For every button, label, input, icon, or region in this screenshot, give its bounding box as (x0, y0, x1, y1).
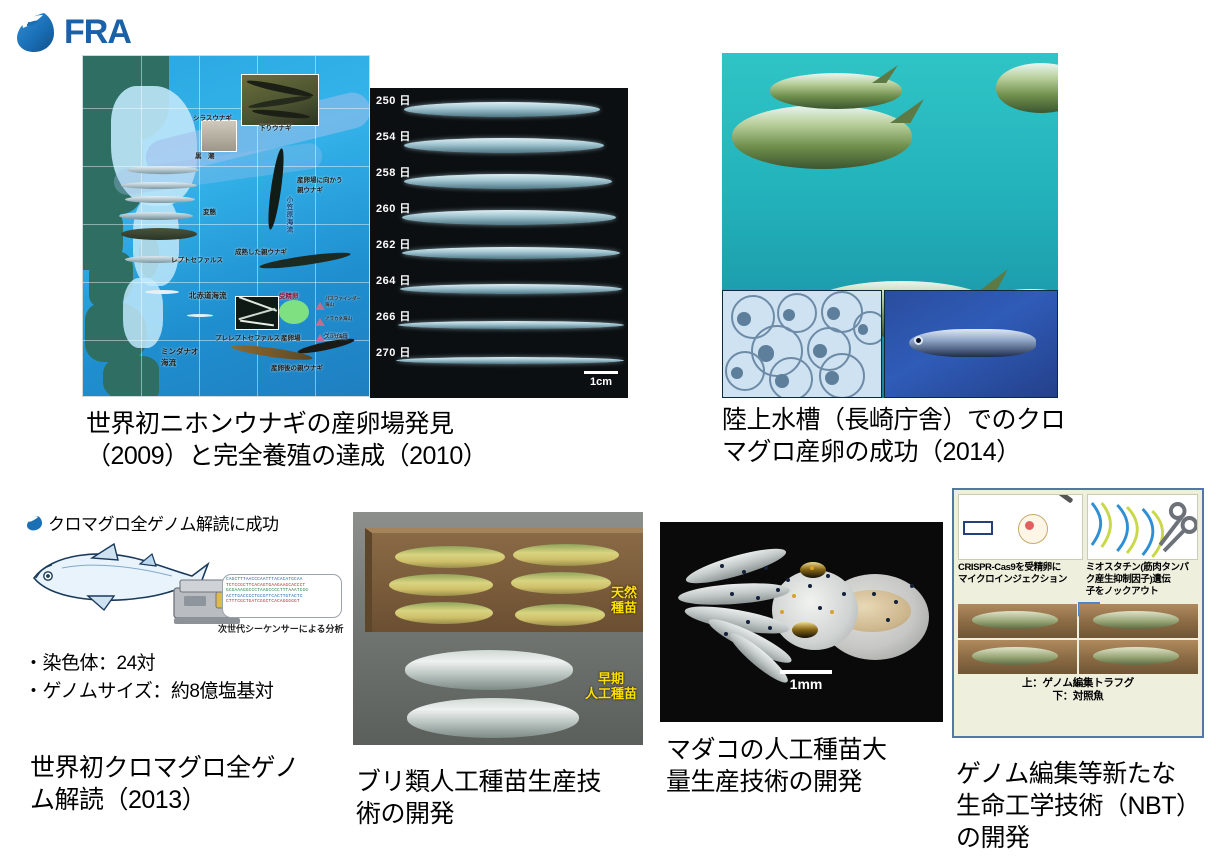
fra-droplet-fish-icon (14, 11, 60, 53)
nbt-text-knockout: ミオスタチン(筋肉タンパク産生抑制因子)遺伝子をノックアウト (1086, 562, 1189, 598)
genome-illustration: CAGCTTTAACCCAATTTACACATGCAA TCTCCGCTTCAC… (22, 534, 342, 644)
nbt-text-injection: CRISPR-Cas9を受精卵にマイクロインジェクション (958, 562, 1083, 598)
nbt-top-row (958, 494, 1198, 560)
genome-fact-chromosomes: ・染色体：24対 (24, 650, 364, 678)
larva-row: 258 日 (370, 160, 628, 196)
nbt-legend: 上：ゲノム編集トラフグ 下：対照魚 (958, 677, 1198, 704)
larva-day-label: 266 日 (376, 308, 411, 324)
caption-genome: 世界初クロマグロ全ゲノ ム解読（2013） (30, 752, 350, 816)
larva-day-label: 254 日 (376, 128, 411, 144)
nbt-genome-editing-diagram: CRISPR-Cas9を受精卵にマイクロインジェクション ミオスタチン(筋肉タン… (952, 488, 1204, 738)
larva-row: 264 日 (370, 268, 628, 304)
tuna-tank-photo (722, 53, 1058, 398)
adult-eel-photo-inset (241, 74, 319, 126)
map-label-north-equatorial-current: 北赤道海流 (189, 290, 227, 301)
larva-day-label: 270 日 (376, 344, 411, 360)
fra-logo: FRA (14, 8, 214, 56)
map-label-spawning-ground: 産卵場 (281, 332, 301, 342)
map-label-mature-eel: 成熟した親ウナギ (235, 246, 287, 256)
yellowtail-seedling-photo: 天然 種苗 早期 人工種苗 (353, 512, 643, 745)
map-label-fertilized-egg: 受精卵 (279, 290, 299, 300)
caption-yellowtail-line2: 術の開発 (356, 798, 656, 830)
nbt-legend-line1: 上：ゲノム編集トラフグ (958, 677, 1198, 691)
map-label-leptocephalus: レプトセファルス (171, 254, 223, 264)
sequence-line: CTTTCGCTGATCGGCTCACAGGGGGT (226, 599, 338, 605)
genome-header: クロマグロ全ゲノム解読に成功 (26, 510, 356, 535)
label-artificial-seedling-line2: 人工種苗 (585, 687, 637, 702)
fertilized-egg-cluster-icon (279, 300, 309, 324)
microinjection-illustration (958, 494, 1083, 560)
scale-bar-1cm: 1cm (584, 371, 618, 388)
larva-day-label: 250 日 (376, 92, 411, 108)
larva-row: 260 日 (370, 196, 628, 232)
caption-nbt-line1: ゲノム編集等新たな (956, 758, 1216, 790)
caption-octopus: マダコの人工種苗大 量生産技術の開発 (666, 734, 956, 798)
caption-yellowtail-line1: ブリ類人工種苗生産技 (356, 766, 656, 798)
map-label-hentai: 変態 (203, 206, 216, 216)
scale-bar-label: 1cm (590, 376, 612, 388)
scale-bar-1mm: 1mm (780, 670, 832, 692)
caption-tuna-tank-line2: マグロ産卵の成功（2014） (722, 436, 1082, 468)
map-label-kuroshio: 黒 潮 (195, 150, 215, 160)
label-natural-seedling: 天然 種苗 (611, 586, 637, 616)
scale-bar-label: 1mm (790, 676, 823, 692)
sequencer-caption: 次世代シーケンサーによる分析 (218, 622, 343, 635)
caption-octopus-line2: 量生産技術の開発 (666, 766, 956, 798)
map-label-spawning-migration-eel: 産卵場に向かう親ウナギ (297, 174, 343, 194)
larva-row: 262 日 (370, 232, 628, 268)
genome-fact-genome-size: ・ゲノムサイズ：約8億塩基対 (24, 678, 364, 706)
dna-sequence-readout: CAGCTTTAACCCAATTTACACATGCAA TCTCCGCTTCAC… (222, 574, 342, 618)
map-label-pathfinder-seamount: パスファインダー海山 (325, 296, 361, 308)
preleptocephalus-photo-inset (235, 296, 279, 330)
nbt-legend-line2: 下：対照魚 (958, 690, 1198, 704)
larva-row: 254 日 (370, 124, 628, 160)
map-label-kudari-unagi: 下りウナギ (259, 122, 292, 132)
map-label-shirasu-unagi: シラスウナギ (193, 112, 232, 122)
map-label-arakane-seamount: アラカネ海山 (325, 316, 352, 322)
tuna-larva-photo-inset (884, 290, 1058, 398)
larva-day-label: 258 日 (376, 164, 411, 180)
nbt-text-row: CRISPR-Cas9を受精卵にマイクロインジェクション ミオスタチン(筋肉タン… (958, 562, 1198, 598)
dna-scissors-illustration (1087, 494, 1198, 560)
caption-tuna-tank: 陸上水槽（長崎庁舎）でのクロ マグロ産卵の成功（2014） (722, 404, 1082, 468)
larva-day-label: 264 日 (376, 272, 411, 288)
caption-genome-line1: 世界初クロマグロ全ゲノ (30, 752, 350, 784)
label-artificial-seedling: 早期 人工種苗 (585, 672, 637, 702)
caption-tuna-tank-line1: 陸上水槽（長崎庁舎）でのクロ (722, 404, 1082, 436)
larva-row: 266 日 (370, 304, 628, 340)
label-artificial-seedling-line1: 早期 (585, 672, 637, 687)
map-label-post-spawning-eel: 産卵後の親ウナギ (271, 362, 323, 372)
label-natural-seedling-line1: 天然 (611, 586, 637, 601)
caption-eel: 世界初ニホンウナギの産卵場発見 （2009）と完全養殖の達成（2010） (86, 408, 646, 472)
map-label-preleptocephalus: プレレプトセファルス (215, 332, 280, 342)
fra-wordmark: FRA (64, 13, 131, 52)
map-label-suruga-seamount: スルガ海山 (325, 334, 347, 340)
tuna-eggs-microscope-inset (722, 290, 882, 398)
caption-nbt-line2: 生命工学技術（NBT） (956, 790, 1216, 822)
fugu-photo (958, 640, 1077, 674)
larva-day-label: 260 日 (376, 200, 411, 216)
larva-row: 250 日 (370, 88, 628, 124)
larva-day-label: 262 日 (376, 236, 411, 252)
octopus-paralarva-photo: 1mm (660, 522, 943, 722)
caption-genome-line2: ム解読（2013） (30, 784, 350, 816)
caption-yellowtail: ブリ類人工種苗生産技 術の開発 (356, 766, 656, 830)
caption-nbt: ゲノム編集等新たな 生命工学技術（NBT） の開発 (956, 758, 1216, 854)
genome-header-text: クロマグロ全ゲノム解読に成功 (48, 510, 279, 535)
fugu-photo (1079, 640, 1198, 674)
caption-eel-line2: （2009）と完全養殖の達成（2010） (86, 440, 646, 472)
fugu-photo (1079, 604, 1198, 638)
caption-nbt-line3: の開発 (956, 822, 1216, 854)
map-label-ogasawara-current: 小笠原海流 (283, 196, 293, 234)
label-natural-seedling-line2: 種苗 (611, 601, 637, 616)
map-label-mindanao-current: ミンダナオ海流 (161, 346, 199, 368)
glass-eel-photo-inset (201, 120, 237, 152)
caption-octopus-line1: マダコの人工種苗大 (666, 734, 956, 766)
fugu-photo (958, 604, 1077, 638)
droplet-icon (26, 515, 44, 531)
caption-eel-line1: 世界初ニホンウナギの産卵場発見 (86, 408, 646, 440)
eel-larvae-growth-series-image: 250 日 254 日 258 日 260 日 262 日 264 日 266 … (370, 88, 628, 398)
genome-facts-list: ・染色体：24対 ・ゲノムサイズ：約8億塩基対 (24, 650, 364, 705)
eel-spawning-map-image: シラスウナギ 下りウナギ 黒 潮 変態 レプトセファルス 北赤道海流 プレレプト… (82, 55, 370, 397)
